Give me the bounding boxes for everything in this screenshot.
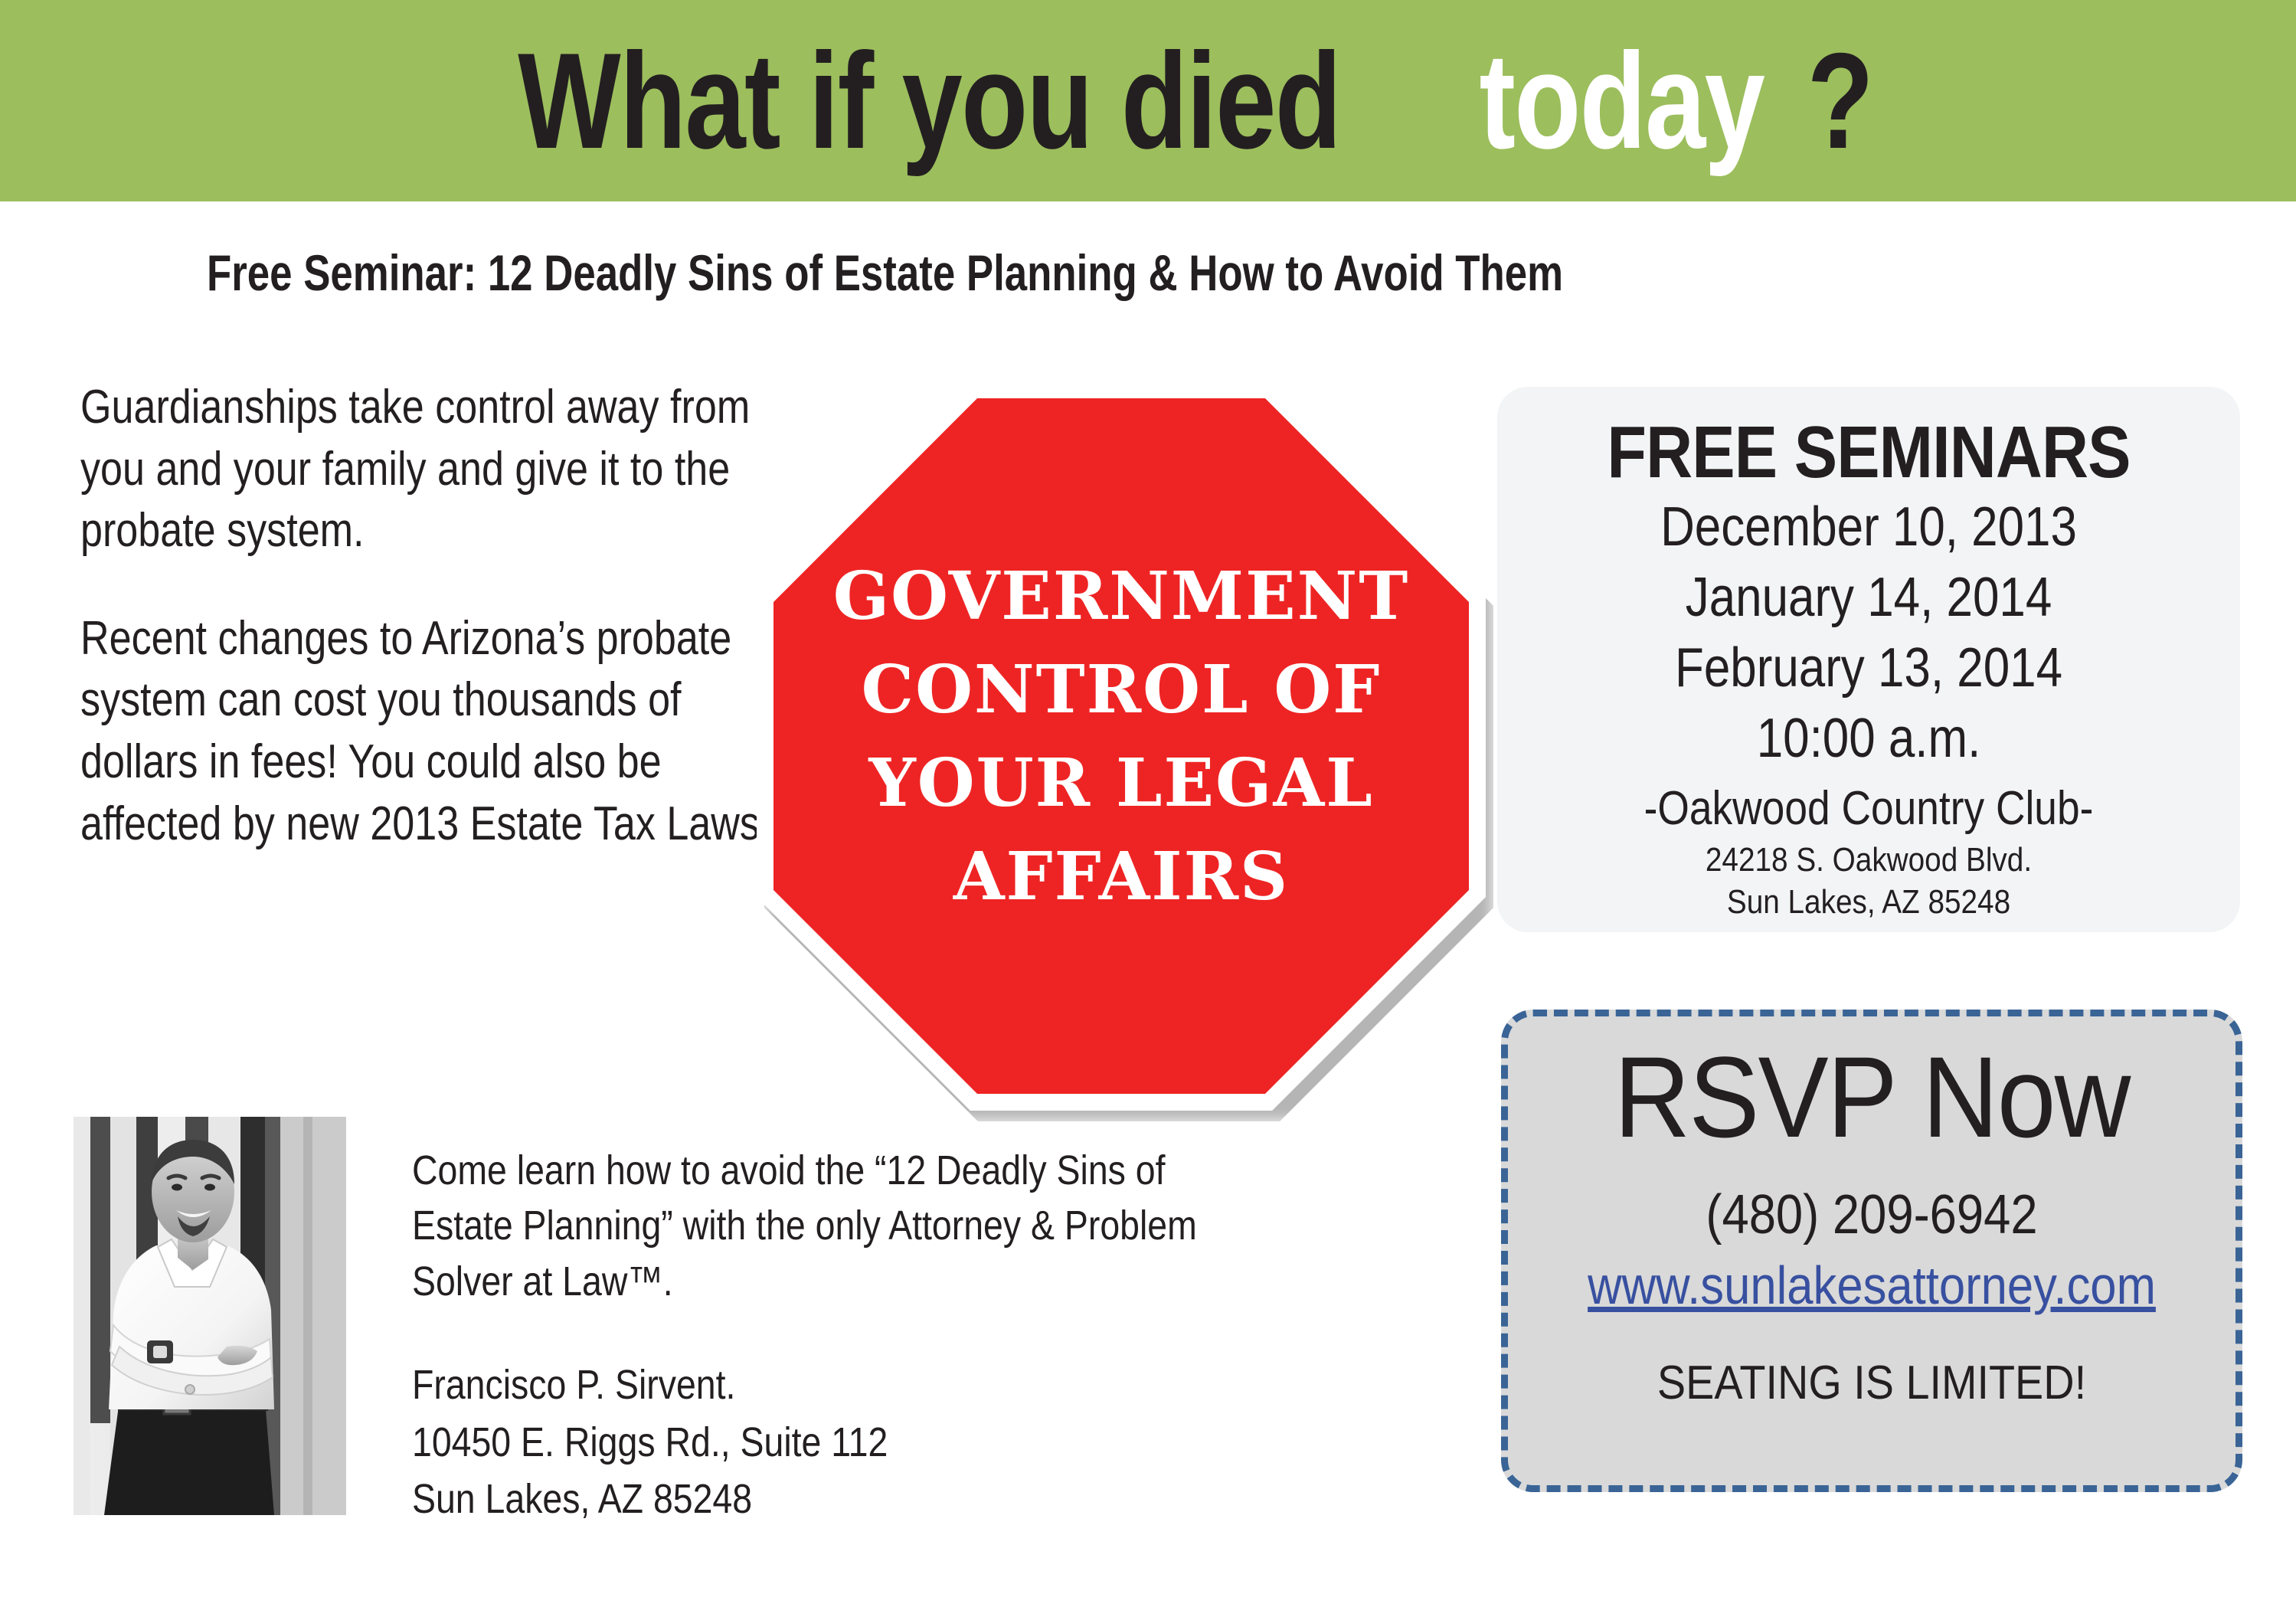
rsvp-card: RSVP Now (480) 209-6942 www.sunlakesatto… <box>1501 1010 2242 1492</box>
contact-name: Francisco P. Sirvent. <box>412 1357 1248 1414</box>
free-seminars-heading: FREE SEMINARS <box>1558 414 2179 492</box>
left-copy-column: Guardianships take control away from you… <box>80 377 800 855</box>
body-paragraph-guardianships: Guardianships take control away from you… <box>80 377 800 562</box>
body-paragraph-probate-costs: Recent changes to Arizona’s probate syst… <box>80 608 800 855</box>
page-title-dark-part: What if you died <box>518 33 1340 169</box>
seminar-time: 10:00 a.m. <box>1565 703 2173 775</box>
seminar-venue-name: -Oakwood Country Club- <box>1565 778 2173 839</box>
stop-sign-line-4: affairs <box>774 830 1469 924</box>
stop-sign-line-1: Government <box>774 550 1469 643</box>
stop-sign-line-2: control of <box>774 643 1469 737</box>
page-title-light-part: today <box>1479 33 1764 169</box>
contact-street-address: 10450 E. Riggs Rd., Suite 112 <box>412 1414 1248 1471</box>
seminar-date-1: December 10, 2013 <box>1565 492 2173 562</box>
contact-block: Francisco P. Sirvent. 10450 E. Riggs Rd.… <box>412 1357 1254 1528</box>
rsvp-heading: RSVP Now <box>1537 1035 2206 1159</box>
page-title: What if you died today? <box>0 0 2296 201</box>
header-banner: What if you died today? <box>0 0 2296 201</box>
rsvp-seating-notice: SEATING IS LIMITED! <box>1545 1355 2200 1412</box>
rsvp-phone-number[interactable]: (480) 209-6942 <box>1552 1182 2192 1248</box>
page-title-question-mark: ? <box>1807 33 1872 169</box>
seminar-date-2: January 14, 2014 <box>1565 562 2173 633</box>
subheadline: Free Seminar: 12 Deadly Sins of Estate P… <box>207 244 1702 302</box>
portrait-illustration <box>74 1117 346 1515</box>
seminar-date-3: February 13, 2014 <box>1565 633 2173 703</box>
bottom-pitch-paragraph: Come learn how to avoid the “12 Deadly S… <box>412 1143 1248 1309</box>
stop-sign-line-3: your legal <box>774 737 1469 830</box>
rsvp-website-link[interactable]: www.sunlakesattorney.com <box>1552 1252 2192 1320</box>
bottom-copy-block: Come learn how to avoid the “12 Deadly S… <box>412 1143 1254 1528</box>
attorney-portrait-photo <box>74 1117 346 1515</box>
stop-sign-text: Government control of your legal affairs <box>774 550 1469 924</box>
seminar-address-street: 24218 S. Oakwood Blvd. <box>1558 839 2179 881</box>
seminar-address-city: Sun Lakes, AZ 85248 <box>1558 881 2179 923</box>
free-seminars-card: FREE SEMINARS December 10, 2013 January … <box>1497 387 2240 932</box>
stop-sign-graphic: Government control of your legal affairs <box>757 381 1501 1126</box>
contact-city-state-zip: Sun Lakes, AZ 85248 <box>412 1471 1248 1528</box>
